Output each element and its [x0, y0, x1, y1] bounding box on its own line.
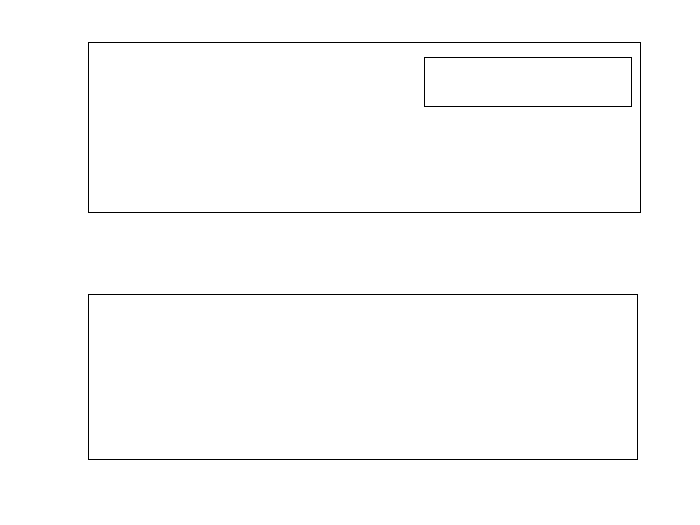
frequency-domain-plot-area — [88, 294, 638, 460]
time-domain-legend[interactable] — [424, 57, 632, 107]
matlab-figure-canvas — [0, 0, 700, 525]
frequency-domain-axes — [88, 294, 638, 460]
